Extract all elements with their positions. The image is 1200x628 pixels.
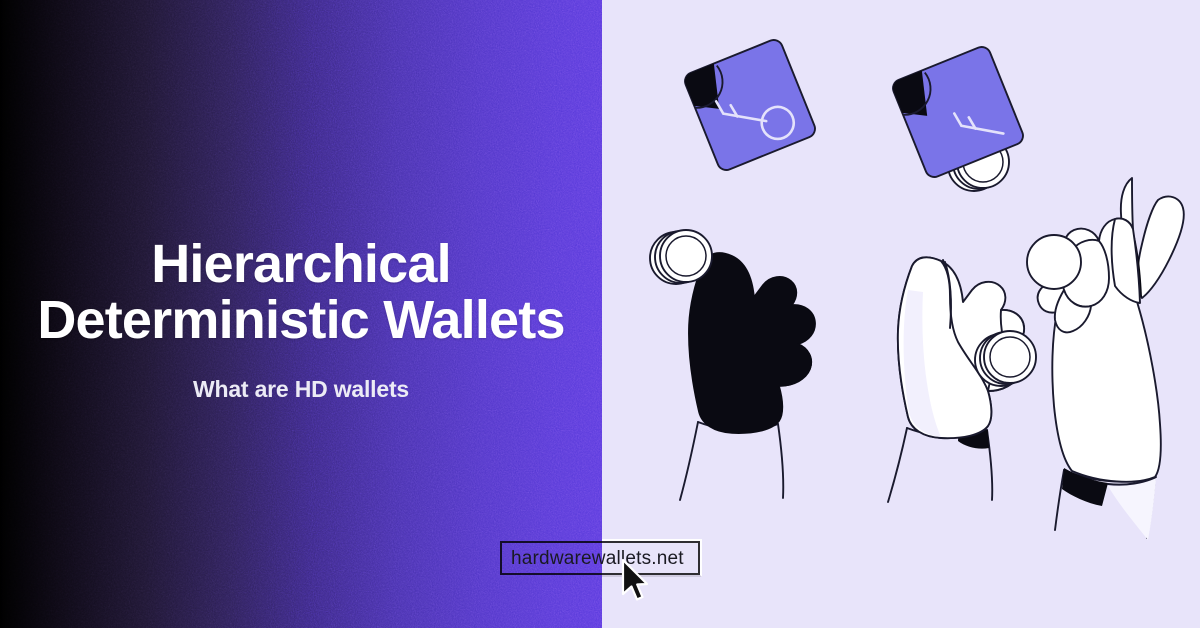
pinched-coin	[1027, 235, 1081, 289]
coin-stack	[650, 230, 712, 284]
coin-stack	[975, 331, 1036, 386]
headline-block: Hierarchical Deterministic Wallets What …	[0, 236, 602, 402]
three-hands-holding-wallets-illustration: .ln { fill:none; stroke:#1A1A2E; stroke-…	[602, 0, 1200, 628]
social-share-card: Hierarchical Deterministic Wallets What …	[0, 0, 1200, 628]
url-badge[interactable]: hardwarewallets.net	[500, 541, 700, 575]
page-title: Hierarchical Deterministic Wallets	[0, 236, 602, 348]
url-badge-text: hardwarewallets.net	[502, 549, 698, 568]
right-illustration-panel: .ln { fill:none; stroke:#1A1A2E; stroke-…	[602, 0, 1200, 628]
left-gradient-panel: Hierarchical Deterministic Wallets What …	[0, 0, 602, 628]
page-subtitle: What are HD wallets	[0, 348, 602, 402]
